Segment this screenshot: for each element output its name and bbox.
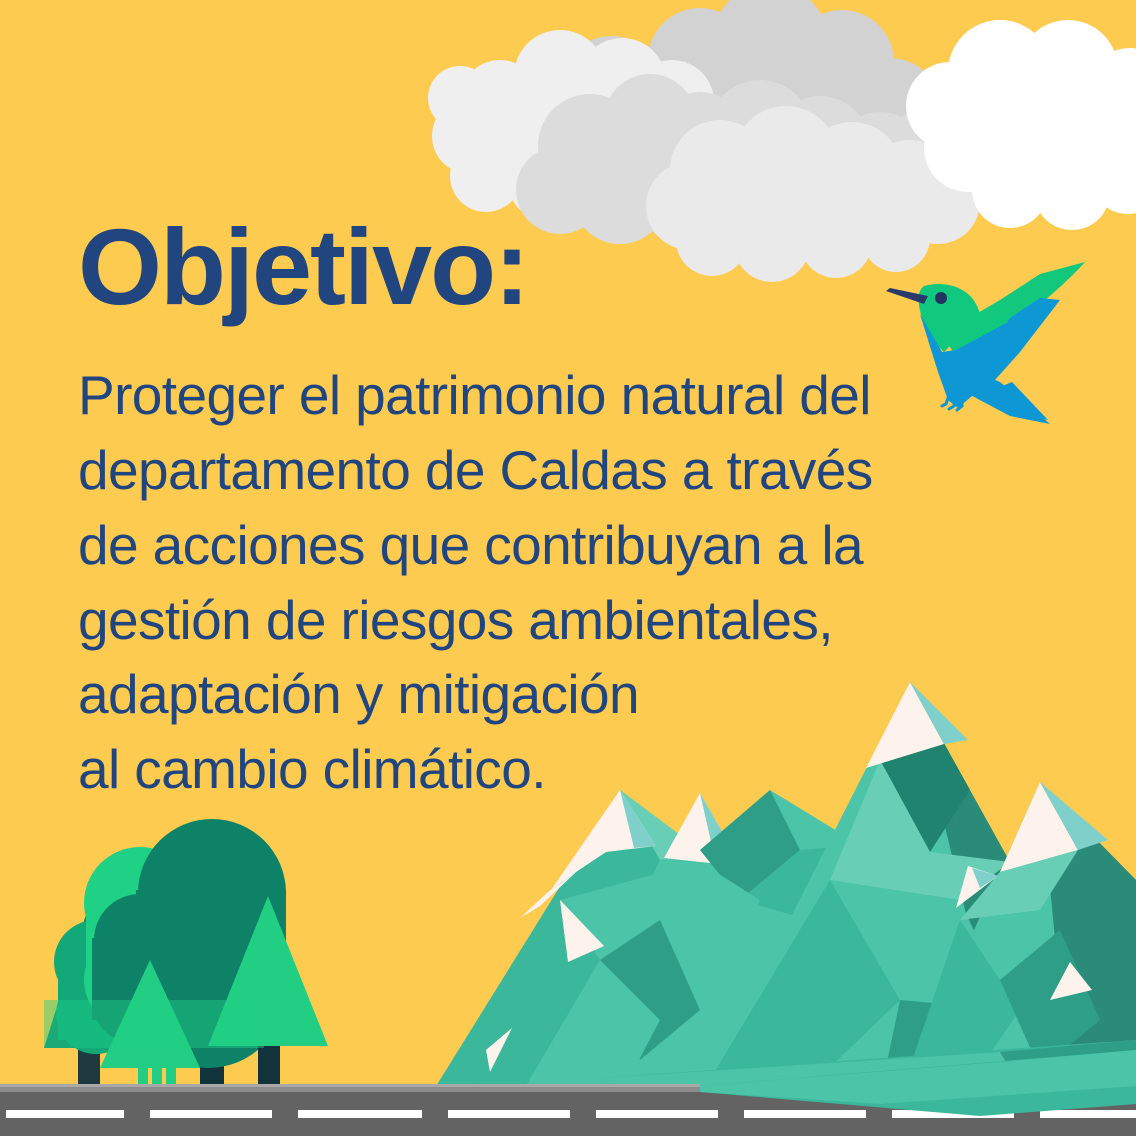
objective-body: Proteger el patrimonio natural del depar… bbox=[78, 358, 978, 807]
body-line: departamento de Caldas a través bbox=[78, 433, 978, 508]
body-line: Proteger el patrimonio natural del bbox=[78, 358, 978, 433]
body-line: al cambio climático. bbox=[78, 732, 978, 807]
poster-canvas: Objetivo: Proteger el patrimonio natural… bbox=[0, 0, 1136, 1136]
text-block: Objetivo: Proteger el patrimonio natural… bbox=[78, 212, 978, 807]
body-line: adaptación y mitigación bbox=[78, 657, 978, 732]
page-title: Objetivo: bbox=[78, 212, 978, 322]
body-line: gestión de riesgos ambientales, bbox=[78, 583, 978, 658]
body-line: de acciones que contribuyan a la bbox=[78, 508, 978, 583]
